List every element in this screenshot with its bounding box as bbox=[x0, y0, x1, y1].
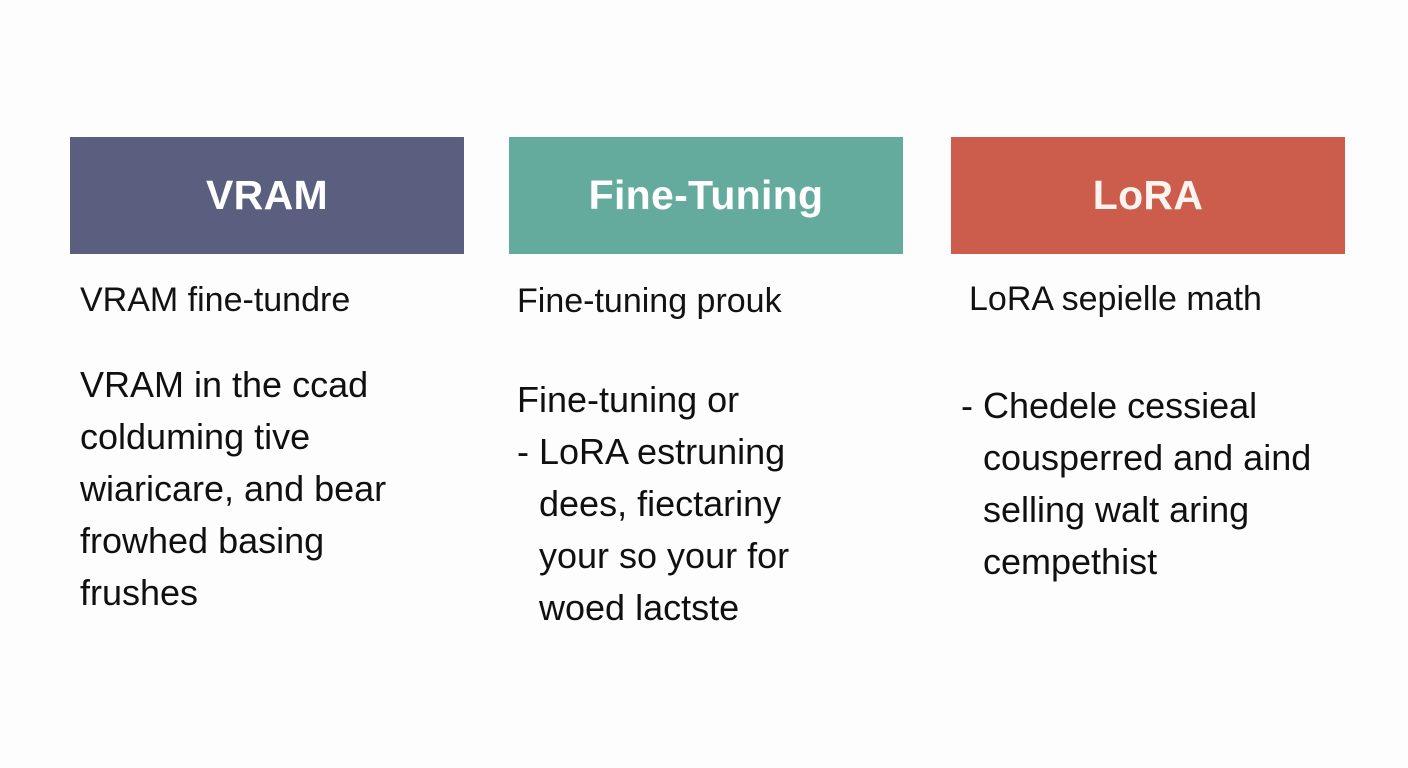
body-line: selling walt aring bbox=[961, 484, 1361, 536]
column-subtitle-vram: VRAM fine-tundre bbox=[80, 282, 464, 319]
column-header-bar-vram: VRAM bbox=[70, 137, 464, 254]
column-subtitle-lora: LoRA sepielle math bbox=[969, 281, 1345, 318]
body-line: frushes bbox=[80, 567, 480, 619]
body-line: VRAM in the ccad bbox=[80, 359, 480, 411]
body-line: Fine-tuning or bbox=[517, 374, 917, 426]
body-line: cempethist bbox=[961, 536, 1361, 588]
column-body-fine-tuning: Fine-tuning or - LoRA estruning dees, fi… bbox=[517, 374, 917, 634]
column-header-label-fine-tuning: Fine-Tuning bbox=[589, 175, 824, 216]
body-line: - LoRA estruning bbox=[517, 426, 917, 478]
column-header-bar-lora: LoRA bbox=[951, 137, 1345, 254]
column-header-label-lora: LoRA bbox=[1093, 175, 1204, 216]
body-line: woed lactste bbox=[517, 582, 917, 634]
comparison-column-vram: VRAM VRAM fine-tundre VRAM in the ccad c… bbox=[70, 137, 464, 619]
body-line: - Chedele cessieal bbox=[961, 380, 1361, 432]
comparison-diagram: VRAM VRAM fine-tundre VRAM in the ccad c… bbox=[0, 0, 1408, 768]
body-line: colduming tive bbox=[80, 411, 480, 463]
column-header-bar-fine-tuning: Fine-Tuning bbox=[509, 137, 903, 254]
body-line: your so your for bbox=[517, 530, 917, 582]
column-header-label-vram: VRAM bbox=[206, 175, 328, 216]
comparison-column-fine-tuning: Fine-Tuning Fine-tuning prouk Fine-tunin… bbox=[509, 137, 903, 634]
body-line: wiaricare, and bear bbox=[80, 463, 480, 515]
body-line: cousperred and aind bbox=[961, 432, 1361, 484]
body-line: dees, fiectariny bbox=[517, 478, 917, 530]
column-subtitle-fine-tuning: Fine-tuning prouk bbox=[517, 283, 903, 320]
column-body-lora: - Chedele cessieal cousperred and aind s… bbox=[961, 380, 1361, 588]
comparison-column-lora: LoRA LoRA sepielle math - Chedele cessie… bbox=[951, 137, 1345, 588]
body-line: frowhed basing bbox=[80, 515, 480, 567]
column-body-vram: VRAM in the ccad colduming tive wiaricar… bbox=[80, 359, 480, 619]
